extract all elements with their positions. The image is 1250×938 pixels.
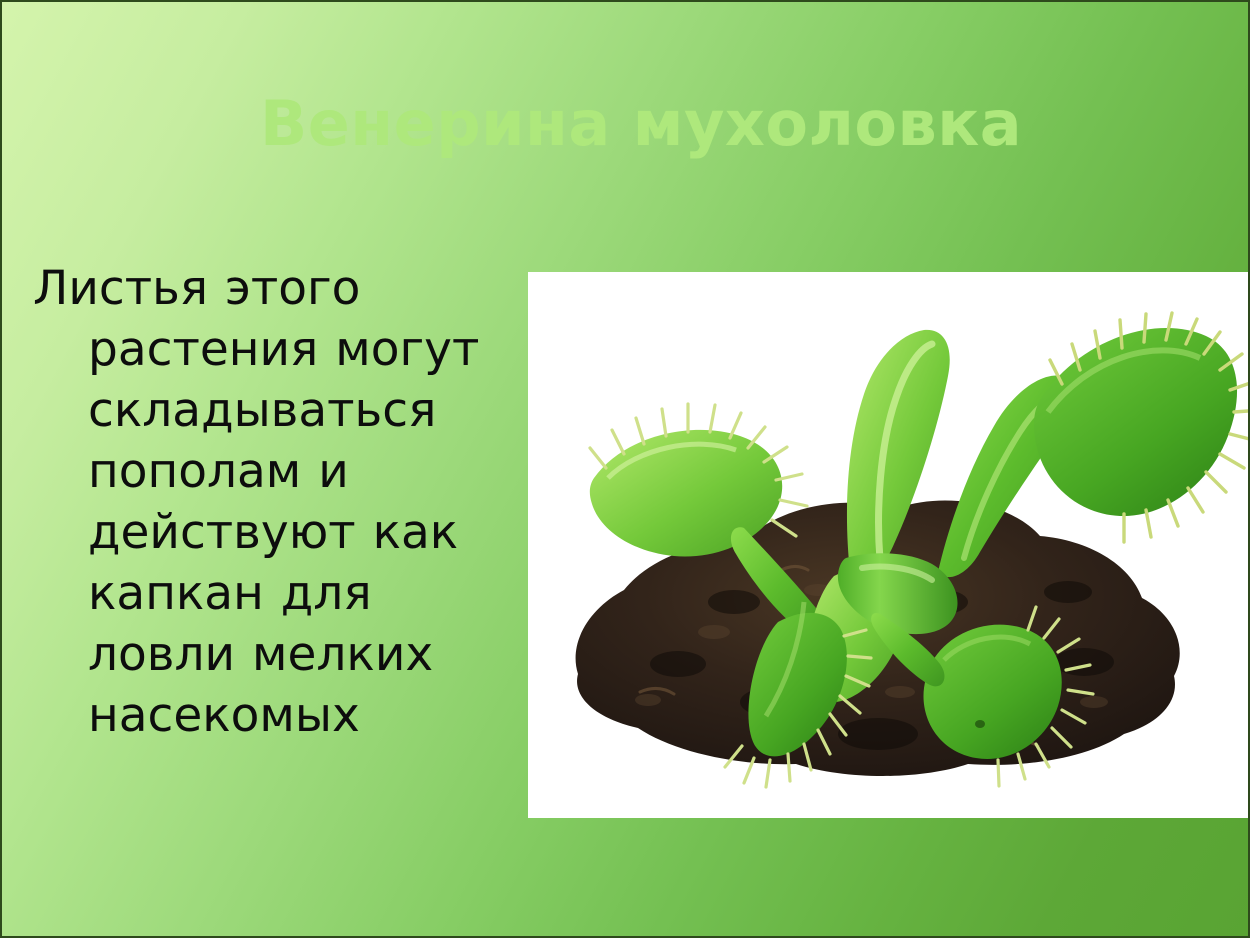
venus-flytrap-photo <box>528 272 1250 818</box>
photo-panel <box>528 272 1250 818</box>
body-paragraph: Листья этого растения могут складываться… <box>33 258 508 746</box>
presentation-slide: Венерина мухоловка Листья этого растения… <box>0 0 1250 938</box>
venus-flytrap-illustration <box>528 272 1250 818</box>
page-title: Венерина мухоловка <box>260 90 1160 158</box>
trap-leaf-upper-right <box>1034 313 1250 542</box>
